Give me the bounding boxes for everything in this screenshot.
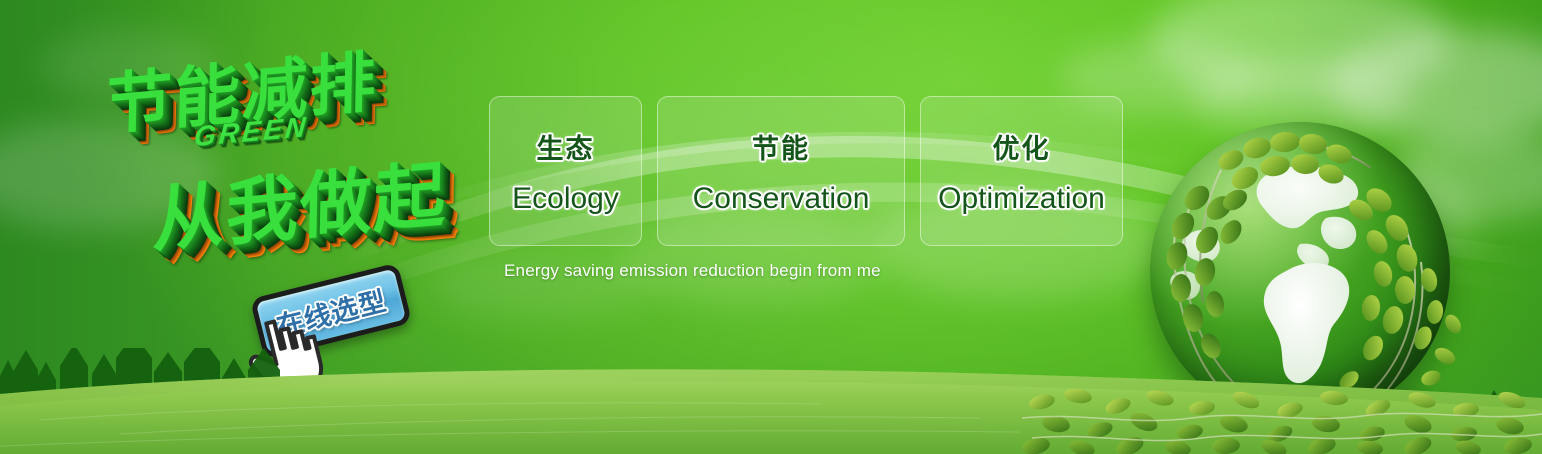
- green-energy-banner: 节能减排 GREEN 从我做起 生态 Ecology 节能 Conservati…: [0, 0, 1542, 454]
- tagline-text: Energy saving emission reduction begin f…: [504, 261, 881, 281]
- feature-label-en: Optimization: [938, 182, 1105, 216]
- feature-label-cn: 优化: [993, 127, 1051, 166]
- feature-box-ecology[interactable]: 生态 Ecology: [489, 96, 642, 246]
- feature-label-en: Ecology: [512, 182, 619, 216]
- feature-label-en: Conservation: [693, 182, 870, 216]
- feature-box-group: 生态 Ecology 节能 Conservation 优化 Optimizati…: [489, 96, 1123, 246]
- headline-line-bottom: 从我做起: [152, 135, 449, 266]
- feature-box-optimization[interactable]: 优化 Optimization: [920, 96, 1123, 246]
- feature-label-cn: 生态: [537, 127, 595, 166]
- leaf-litter-foreground: [1022, 388, 1542, 454]
- feature-label-cn: 节能: [752, 127, 810, 166]
- feature-box-conservation[interactable]: 节能 Conservation: [657, 96, 905, 246]
- headline-artwork: 节能减排 GREEN 从我做起: [96, 38, 486, 268]
